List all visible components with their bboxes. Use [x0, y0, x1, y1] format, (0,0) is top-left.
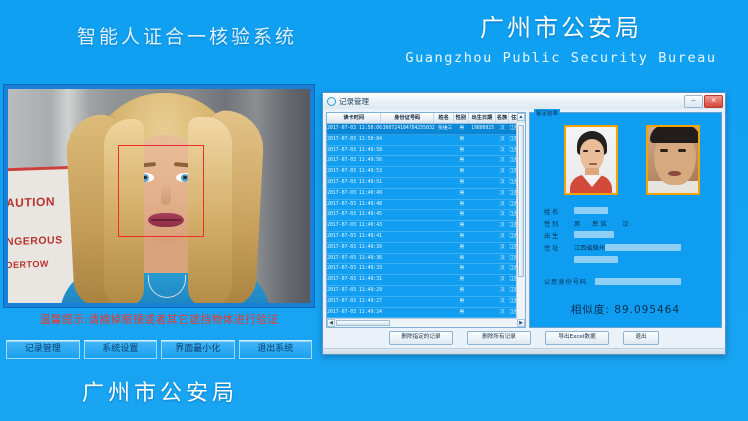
table-cell-ethnic: 汉: [496, 124, 508, 134]
table-cell-id: [382, 200, 435, 210]
table-row[interactable]: 2017-07-03 11:50:06360724184784255032张维三…: [327, 124, 525, 135]
records-window[interactable]: 记录管理 – ✕ 读卡时间 身份证号码 姓名 性别 出生日期 名族: [322, 92, 726, 355]
org-name-footer: 广州市公安局: [40, 375, 280, 407]
table-row[interactable]: 2017-07-03 11:49:36男汉江西省赣州市: [327, 254, 525, 265]
field-ethnic-label: 民族: [592, 219, 618, 228]
table-cell-name: [435, 146, 455, 156]
table-row[interactable]: 2017-07-03 11:50:04男汉江西省赣州市: [327, 135, 525, 146]
close-glyph: ✕: [705, 98, 722, 105]
field-id-row: 公民身份号码: [544, 277, 713, 286]
table-cell-ethnic: 汉: [496, 221, 508, 231]
table-row[interactable]: 2017-07-03 11:49:41男汉江西省赣州市: [327, 232, 525, 243]
table-cell-ethnic: 汉: [496, 275, 508, 285]
horizontal-scroll-thumb[interactable]: [336, 320, 390, 326]
table-cell-birth: [469, 297, 497, 307]
field-address-value: 江西省赣州: [574, 243, 681, 252]
identity-fields: 姓名 性别 男 民族 汉 出生 住址 江西省赣州: [544, 205, 713, 286]
field-id-label: 公民身份号码: [544, 277, 587, 286]
column-header-name[interactable]: 姓名: [434, 113, 454, 123]
table-cell-id: 360724184784255032: [382, 124, 435, 134]
table-cell-name: [435, 275, 455, 285]
table-row[interactable]: 2017-07-03 11:49:39男汉江西省赣州市: [327, 243, 525, 254]
table-cell-id: [382, 264, 435, 274]
table-cell-name: [435, 189, 455, 199]
org-name-cn: 广州市公安局: [374, 8, 748, 43]
table-cell-sex: 男: [455, 189, 469, 199]
face-detection-box: [118, 145, 204, 237]
table-cell-ethnic: 汉: [496, 264, 508, 274]
field-birth-row: 出生: [544, 229, 713, 241]
table-cell-time: 2017-07-03 11:49:45: [327, 210, 382, 220]
field-name-row: 姓名: [544, 205, 713, 217]
table-cell-time: 2017-07-03 11:49:33: [327, 264, 382, 274]
table-cell-time: 2017-07-03 11:49:53: [327, 167, 382, 177]
table-cell-ethnic: 汉: [496, 308, 508, 318]
column-header-ethnicity[interactable]: 名族: [496, 113, 508, 123]
table-cell-birth: [469, 232, 497, 242]
table-cell-ethnic: 汉: [496, 254, 508, 264]
field-birth-value: [574, 231, 614, 239]
table-cell-time: 2017-07-03 11:49:41: [327, 232, 382, 242]
table-cell-name: [435, 156, 455, 166]
table-row[interactable]: 2017-07-03 11:49:56男汉江西省赣州市: [327, 156, 525, 167]
org-name-en: Guangzhou Public Security Bureau: [374, 50, 748, 66]
table-cell-sex: 男: [455, 135, 469, 145]
similarity-score: 相似度: 89.095464: [530, 302, 721, 317]
records-action-buttons: 删除指定的记录 删除所有记录 导出Excel数据 退出: [323, 331, 725, 345]
table-row[interactable]: 2017-07-03 11:49:43男汉江西省赣州市: [327, 221, 525, 232]
app-root: 智能人证合一核验系统 广州市公安局 Guangzhou Public Secur…: [0, 0, 748, 421]
table-row[interactable]: 2017-07-03 11:49:51男汉江西省赣州市: [327, 178, 525, 189]
table-cell-birth: [469, 243, 497, 253]
table-row[interactable]: 2017-07-03 11:49:29男汉江西省赣州市: [327, 286, 525, 297]
caution-line-1: AUTION: [8, 194, 76, 211]
redacted-address: [605, 244, 681, 251]
minimize-icon[interactable]: –: [684, 95, 703, 108]
table-cell-sex: 男: [455, 232, 469, 242]
id-card-photo: [564, 125, 618, 195]
exit-system-button[interactable]: 退出系统: [239, 340, 313, 359]
window-title-bar[interactable]: 记录管理 – ✕: [323, 93, 725, 110]
table-cell-id: [382, 167, 435, 177]
warning-message: 温馨提示:请摘掉眼镜或者其它遮挡物体进行验证: [4, 311, 314, 327]
table-cell-name: [435, 178, 455, 188]
table-cell-sex: 男: [455, 200, 469, 210]
field-name-label: 姓名: [544, 207, 570, 216]
table-cell-birth: [469, 286, 497, 296]
table-cell-id: [382, 221, 435, 231]
photo-comparison: [530, 123, 721, 199]
column-header-id-number[interactable]: 身份证号码: [381, 113, 434, 123]
scroll-up-arrow-icon[interactable]: ▲: [517, 113, 525, 121]
table-cell-birth: [469, 156, 497, 166]
table-cell-sex: 男: [455, 286, 469, 296]
table-cell-sex: 男: [455, 297, 469, 307]
table-cell-name: [435, 264, 455, 274]
export-excel-button[interactable]: 导出Excel数据: [545, 331, 609, 345]
table-cell-name: [435, 308, 455, 318]
table-cell-birth: [469, 200, 497, 210]
column-header-read-time[interactable]: 读卡时间: [327, 113, 381, 123]
table-cell-time: 2017-07-03 11:49:29: [327, 286, 382, 296]
vertical-scroll-thumb[interactable]: [518, 125, 524, 277]
table-row[interactable]: 2017-07-03 11:49:31男汉江西省赣州市: [327, 275, 525, 286]
field-birth-label: 出生: [544, 231, 570, 240]
field-sex-value: 男: [574, 219, 580, 228]
table-cell-id: [382, 254, 435, 264]
table-cell-sex: 男: [455, 124, 469, 134]
app-logo-icon: [327, 97, 336, 106]
table-cell-birth: [469, 178, 497, 188]
table-cell-name: [435, 200, 455, 210]
table-cell-time: 2017-07-03 11:50:06: [327, 124, 382, 134]
field-address-label: 住址: [544, 243, 570, 252]
table-cell-id: [382, 146, 435, 156]
delete-all-records-button[interactable]: 删除所有记录: [467, 331, 531, 345]
table-cell-sex: 男: [455, 254, 469, 264]
records-table[interactable]: 读卡时间 身份证号码 姓名 性别 出生日期 名族 住址 2017-07-03 1…: [326, 112, 526, 328]
records-management-button[interactable]: 记录管理: [6, 340, 80, 359]
table-cell-id: [382, 210, 435, 220]
table-horizontal-scrollbar[interactable]: ◀ ▶: [327, 318, 517, 327]
table-header-row: 读卡时间 身份证号码 姓名 性别 出生日期 名族 住址: [327, 113, 525, 124]
redacted-birth: [574, 231, 614, 238]
table-cell-id: [382, 156, 435, 166]
table-cell-birth: [469, 167, 497, 177]
table-cell-ethnic: 汉: [496, 200, 508, 210]
table-cell-sex: 男: [455, 156, 469, 166]
table-cell-sex: 男: [455, 167, 469, 177]
verification-result-caption: 鉴定结果: [534, 109, 560, 117]
redacted-id-number: [595, 278, 681, 285]
field-address-row-2: [574, 253, 713, 265]
table-cell-birth: [469, 146, 497, 156]
table-cell-name: [435, 297, 455, 307]
live-video-feed: AUTION NGEROUS DERTOW: [8, 89, 310, 303]
minimize-ui-button[interactable]: 界面最小化: [161, 340, 235, 359]
table-cell-birth: [469, 135, 497, 145]
table-cell-time: 2017-07-03 11:49:43: [327, 221, 382, 231]
table-cell-time: 2017-07-03 11:49:48: [327, 200, 382, 210]
live-capture-photo: [646, 125, 700, 195]
table-cell-name: [435, 243, 455, 253]
field-address-row: 住址 江西省赣州: [544, 241, 713, 253]
table-cell-ethnic: 汉: [496, 178, 508, 188]
similarity-value: 89.095464: [614, 304, 680, 316]
table-cell-sex: 男: [455, 275, 469, 285]
scroll-left-arrow-icon[interactable]: ◀: [327, 319, 335, 327]
table-vertical-scrollbar[interactable]: ▲ ▼: [516, 123, 525, 319]
field-sex-row: 性别 男 民族 汉: [544, 217, 713, 229]
window-title-text: 记录管理: [339, 96, 369, 107]
field-ethnic-value: 汉: [622, 219, 628, 228]
table-cell-birth: [469, 308, 497, 318]
field-sex-label: 性别: [544, 219, 570, 228]
table-cell-time: 2017-07-03 11:49:31: [327, 275, 382, 285]
table-cell-id: [382, 135, 435, 145]
table-cell-ethnic: 汉: [496, 297, 508, 307]
table-cell-name: [435, 221, 455, 231]
redacted-name: [574, 207, 608, 214]
table-cell-sex: 男: [455, 243, 469, 253]
delete-selected-record-button[interactable]: 删除指定的记录: [389, 331, 453, 345]
table-row[interactable]: 2017-07-03 11:49:45男汉江西省赣州市: [327, 210, 525, 221]
verification-result-panel: 鉴定结果: [529, 112, 722, 328]
table-cell-name: [435, 135, 455, 145]
subject-neck: [140, 239, 190, 273]
table-cell-time: 2017-07-03 11:49:39: [327, 243, 382, 253]
main-button-row: 记录管理 系统设置 界面最小化 退出系统: [6, 340, 312, 359]
table-cell-name: [435, 286, 455, 296]
caution-line-3: DERTOW: [8, 258, 76, 271]
table-cell-birth: [469, 254, 497, 264]
window-status-bar: [323, 348, 725, 354]
table-cell-ethnic: 汉: [496, 189, 508, 199]
table-cell-name: [435, 254, 455, 264]
table-cell-id: [382, 308, 435, 318]
table-cell-time: 2017-07-03 11:49:51: [327, 178, 382, 188]
system-title: 智能人证合一核验系统: [0, 22, 374, 49]
redacted-address-2: [574, 256, 618, 263]
table-cell-id: [382, 178, 435, 188]
table-cell-ethnic: 汉: [496, 167, 508, 177]
table-cell-id: [382, 189, 435, 199]
table-cell-birth: [469, 189, 497, 199]
table-cell-sex: 男: [455, 308, 469, 318]
table-cell-sex: 男: [455, 146, 469, 156]
table-cell-birth: 19800925: [469, 124, 497, 134]
window-body: 读卡时间 身份证号码 姓名 性别 出生日期 名族 住址 2017-07-03 1…: [323, 109, 725, 354]
close-window-button[interactable]: 退出: [623, 331, 659, 345]
table-cell-time: 2017-07-03 11:49:56: [327, 156, 382, 166]
table-cell-ethnic: 汉: [496, 156, 508, 166]
close-icon[interactable]: ✕: [704, 95, 723, 108]
table-cell-sex: 男: [455, 178, 469, 188]
address-visible-part: 江西省赣州: [574, 245, 605, 252]
table-cell-ethnic: 汉: [496, 243, 508, 253]
table-body: 2017-07-03 11:50:06360724184784255032张维三…: [327, 124, 525, 328]
table-cell-time: 2017-07-03 11:49:24: [327, 308, 382, 318]
table-row[interactable]: 2017-07-03 11:49:48男汉江西省赣州市: [327, 200, 525, 211]
table-cell-name: [435, 232, 455, 242]
table-cell-ethnic: 汉: [496, 232, 508, 242]
similarity-label: 相似度:: [571, 304, 610, 316]
table-cell-id: [382, 297, 435, 307]
table-row[interactable]: 2017-07-03 11:49:33男汉江西省赣州市: [327, 264, 525, 275]
column-header-birthdate[interactable]: 出生日期: [469, 113, 497, 123]
table-row[interactable]: 2017-07-03 11:49:53男汉江西省赣州市: [327, 167, 525, 178]
caution-sign: AUTION NGEROUS DERTOW: [8, 166, 76, 303]
table-cell-ethnic: 汉: [496, 146, 508, 156]
minimize-glyph: –: [685, 98, 702, 105]
table-cell-name: [435, 167, 455, 177]
table-cell-ethnic: 汉: [496, 210, 508, 220]
table-row[interactable]: 2017-07-03 11:49:58男汉江西省赣州市: [327, 146, 525, 157]
column-header-sex[interactable]: 性别: [454, 113, 468, 123]
table-cell-sex: 男: [455, 264, 469, 274]
table-cell-ethnic: 汉: [496, 286, 508, 296]
window-controls: – ✕: [683, 95, 723, 108]
table-cell-name: 张维三: [435, 124, 455, 134]
live-video-panel[interactable]: AUTION NGEROUS DERTOW: [4, 85, 314, 307]
table-cell-sex: 男: [455, 221, 469, 231]
table-cell-time: 2017-07-03 11:49:58: [327, 146, 382, 156]
field-name-value: [574, 207, 608, 215]
table-row[interactable]: 2017-07-03 11:49:24男汉江西省赣州市: [327, 308, 525, 319]
table-row[interactable]: 2017-07-03 11:49:49男汉江西省赣州市: [327, 189, 525, 200]
table-cell-id: [382, 275, 435, 285]
table-cell-id: [382, 286, 435, 296]
caution-line-2: NGEROUS: [8, 234, 76, 249]
table-cell-id: [382, 243, 435, 253]
table-cell-time: 2017-07-03 11:49:49: [327, 189, 382, 199]
table-cell-birth: [469, 275, 497, 285]
table-cell-birth: [469, 221, 497, 231]
table-cell-time: 2017-07-03 11:50:04: [327, 135, 382, 145]
table-cell-name: [435, 210, 455, 220]
table-row[interactable]: 2017-07-03 11:49:27男汉江西省赣州市: [327, 297, 525, 308]
system-settings-button[interactable]: 系统设置: [84, 340, 158, 359]
org-header: 广州市公安局 Guangzhou Public Security Bureau: [374, 8, 748, 66]
table-cell-birth: [469, 210, 497, 220]
table-cell-sex: 男: [455, 210, 469, 220]
table-cell-id: [382, 232, 435, 242]
table-cell-ethnic: 汉: [496, 135, 508, 145]
table-cell-birth: [469, 264, 497, 274]
table-cell-time: 2017-07-03 11:49:27: [327, 297, 382, 307]
table-cell-time: 2017-07-03 11:49:36: [327, 254, 382, 264]
scroll-right-arrow-icon[interactable]: ▶: [517, 319, 525, 327]
